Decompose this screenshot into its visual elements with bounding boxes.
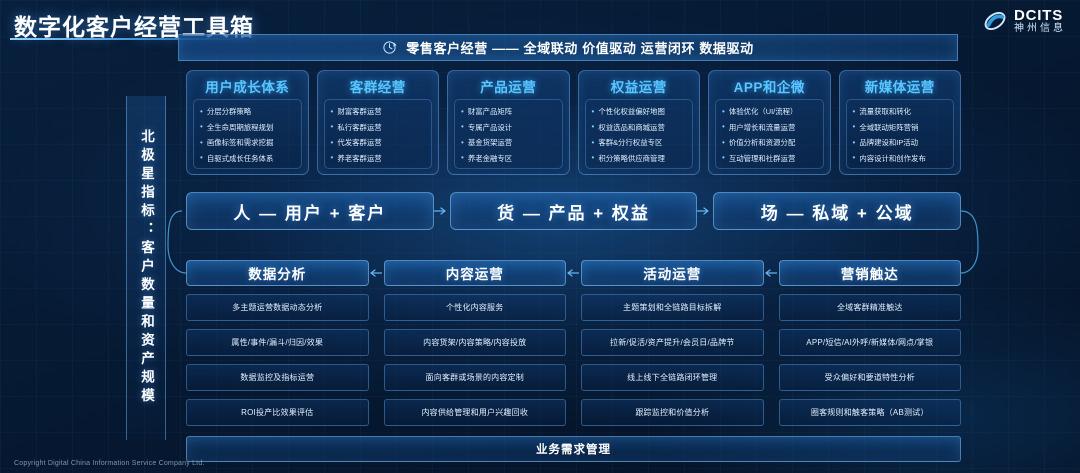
step-label: 营销触达 bbox=[841, 263, 899, 283]
card-item: 专属产品设计 bbox=[461, 123, 560, 132]
capability-card[interactable]: 产品运营 财富产品矩阵 专属产品设计 基金货架运营 养老金融专区 bbox=[447, 70, 570, 175]
card-item: 财富产品矩阵 bbox=[461, 107, 560, 116]
matrix-cell[interactable]: 内容供给管理和用户兴趣回收 bbox=[384, 399, 567, 426]
slide-canvas: 数字化客户经营工具箱 DCITS 神州信息 北极星指标：客户数量和资产规模 零售… bbox=[0, 0, 1080, 473]
matrix-cell[interactable]: 内容货架/内容策略/内容投放 bbox=[384, 329, 567, 356]
card-item: 画像标签和需求挖掘 bbox=[200, 138, 299, 147]
card-item: 积分策略供应商管理 bbox=[592, 154, 691, 163]
card-title: APP和企微 bbox=[713, 76, 826, 99]
card-item: 内容设计和创作发布 bbox=[853, 154, 952, 163]
footer-bar[interactable]: 业务需求管理 bbox=[186, 436, 961, 462]
logo-wordmark: DCITS bbox=[1014, 8, 1066, 24]
step-data-analysis[interactable]: 数据分析 bbox=[186, 260, 369, 286]
capability-card[interactable]: APP和企微 体验优化（UI/流程） 用户增长和流量运营 价值分析和资源分配 互… bbox=[708, 70, 831, 175]
banner-text: 零售客户经营 —— 全域联动 价值驱动 运营闭环 数据驱动 bbox=[406, 38, 753, 57]
matrix-cell[interactable]: ROI投产比效果评估 bbox=[186, 399, 369, 426]
matrix-cell[interactable]: 属性/事件/漏斗/归因/效果 bbox=[186, 329, 369, 356]
card-title: 权益运营 bbox=[583, 76, 696, 99]
card-body: 分层分群策略 全生命周期旅程规划 画像标签和需求挖掘 自驱式成长任务体系 bbox=[193, 99, 302, 169]
step-label: 内容运营 bbox=[446, 263, 504, 283]
retail-cycle-icon bbox=[382, 40, 397, 55]
step-label: 数据分析 bbox=[248, 263, 306, 283]
brand-logo: DCITS 神州信息 bbox=[982, 8, 1066, 34]
footer-bar-label: 业务需求管理 bbox=[536, 441, 611, 457]
card-item: 互动管理和社群运营 bbox=[722, 154, 821, 163]
card-body: 体验优化（UI/流程） 用户增长和流量运营 价值分析和资源分配 互动管理和社群运… bbox=[715, 99, 824, 169]
pillar-label: 人 — 用户 + 客户 bbox=[233, 199, 386, 224]
matrix-cell[interactable]: 面向客群或场景的内容定制 bbox=[384, 364, 567, 391]
arrow-left-icon bbox=[566, 268, 579, 278]
card-item: 价值分析和资源分配 bbox=[722, 138, 821, 147]
pillar-goods[interactable]: 货 — 产品 + 权益 bbox=[450, 192, 698, 230]
card-item: 代发客群运营 bbox=[331, 138, 430, 147]
card-item: 用户增长和流量运营 bbox=[722, 123, 821, 132]
card-body: 个性化权益偏好地图 权益选品和商城运营 客群&分行权益专区 积分策略供应商管理 bbox=[585, 99, 694, 169]
arrow-left-icon bbox=[369, 268, 382, 278]
arrow-left-icon bbox=[764, 268, 777, 278]
card-item: 全生命周期旅程规划 bbox=[200, 123, 299, 132]
card-item: 自驱式成长任务体系 bbox=[200, 154, 299, 163]
matrix-cell[interactable]: 受众偏好和要道特性分析 bbox=[779, 364, 962, 391]
card-item: 客群&分行权益专区 bbox=[592, 138, 691, 147]
card-item: 体验优化（UI/流程） bbox=[722, 107, 821, 116]
card-item: 个性化权益偏好地图 bbox=[592, 107, 691, 116]
step-row: 数据分析 内容运营 活动运营 营销触达 bbox=[186, 260, 961, 286]
dcits-swirl-icon bbox=[982, 8, 1008, 34]
pillar-row: 人 — 用户 + 客户 货 — 产品 + 权益 场 — 私域 + 公域 bbox=[186, 192, 961, 230]
capability-card[interactable]: 用户成长体系 分层分群策略 全生命周期旅程规划 画像标签和需求挖掘 自驱式成长任… bbox=[186, 70, 309, 175]
matrix-cell[interactable]: 跟踪监控和价值分析 bbox=[581, 399, 764, 426]
arrow-right-icon bbox=[434, 206, 448, 216]
card-body: 流量获取和转化 全域联动矩阵营销 品牌建设和IP活动 内容设计和创作发布 bbox=[846, 99, 955, 169]
matrix-cell[interactable]: 圈客规则和触客策略（AB测试） bbox=[779, 399, 962, 426]
card-item: 养老客群运营 bbox=[331, 154, 430, 163]
step-content-ops[interactable]: 内容运营 bbox=[384, 260, 567, 286]
north-star-label: 北极星指标：客户数量和资产规模 bbox=[136, 129, 156, 407]
pillar-people[interactable]: 人 — 用户 + 客户 bbox=[186, 192, 434, 230]
card-body: 财富产品矩阵 专属产品设计 基金货架运营 养老金融专区 bbox=[454, 99, 563, 169]
step-marketing-reach[interactable]: 营销触达 bbox=[779, 260, 962, 286]
matrix-column-marketing-reach: 全域客群精准触达 APP/短信/AI外呼/新媒体/网点/掌银 受众偏好和要道特性… bbox=[779, 294, 962, 426]
north-star-axis: 北极星指标：客户数量和资产规模 bbox=[126, 96, 166, 440]
card-item: 全域联动矩阵营销 bbox=[853, 123, 952, 132]
copyright-text: Copyright Digital China Information Serv… bbox=[14, 460, 205, 467]
step-campaign-ops[interactable]: 活动运营 bbox=[581, 260, 764, 286]
card-title: 产品运营 bbox=[452, 76, 565, 99]
card-item: 养老金融专区 bbox=[461, 154, 560, 163]
card-title: 用户成长体系 bbox=[191, 76, 304, 99]
capability-card[interactable]: 客群经营 财富客群运营 私行客群运营 代发客群运营 养老客群运营 bbox=[317, 70, 440, 175]
card-item: 品牌建设和IP活动 bbox=[853, 138, 952, 147]
card-body: 财富客群运营 私行客群运营 代发客群运营 养老客群运营 bbox=[324, 99, 433, 169]
matrix-cell[interactable]: 数据监控及指标运营 bbox=[186, 364, 369, 391]
capability-card-row: 用户成长体系 分层分群策略 全生命周期旅程规划 画像标签和需求挖掘 自驱式成长任… bbox=[186, 70, 961, 175]
matrix-column-data-analysis: 多主题运营数据动态分析 属性/事件/漏斗/归因/效果 数据监控及指标运营 ROI… bbox=[186, 294, 369, 426]
card-title: 新媒体运营 bbox=[844, 76, 957, 99]
headline-banner: 零售客户经营 —— 全域联动 价值驱动 运营闭环 数据驱动 bbox=[178, 34, 958, 61]
matrix-cell[interactable]: 多主题运营数据动态分析 bbox=[186, 294, 369, 321]
card-item: 私行客群运营 bbox=[331, 123, 430, 132]
pillar-label: 货 — 产品 + 权益 bbox=[497, 199, 650, 224]
card-item: 分层分群策略 bbox=[200, 107, 299, 116]
matrix-cell[interactable]: 主题策划和全链路目标拆解 bbox=[581, 294, 764, 321]
pillar-label: 场 — 私域 + 公域 bbox=[761, 199, 914, 224]
logo-chinese-name: 神州信息 bbox=[1014, 24, 1066, 35]
card-item: 流量获取和转化 bbox=[853, 107, 952, 116]
matrix-column-campaign-ops: 主题策划和全链路目标拆解 拉新/促活/资产提升/会员日/品牌节 线上线下全链路闭… bbox=[581, 294, 764, 426]
capability-card[interactable]: 新媒体运营 流量获取和转化 全域联动矩阵营销 品牌建设和IP活动 内容设计和创作… bbox=[839, 70, 962, 175]
matrix-cell[interactable]: APP/短信/AI外呼/新媒体/网点/掌银 bbox=[779, 329, 962, 356]
matrix-column-content-ops: 个性化内容服务 内容货架/内容策略/内容投放 面向客群或场景的内容定制 内容供给… bbox=[384, 294, 567, 426]
matrix-cell[interactable]: 个性化内容服务 bbox=[384, 294, 567, 321]
pillar-field[interactable]: 场 — 私域 + 公域 bbox=[713, 192, 961, 230]
matrix-cell[interactable]: 拉新/促活/资产提升/会员日/品牌节 bbox=[581, 329, 764, 356]
matrix-cell[interactable]: 线上线下全链路闭环管理 bbox=[581, 364, 764, 391]
card-title: 客群经营 bbox=[322, 76, 435, 99]
card-item: 财富客群运营 bbox=[331, 107, 430, 116]
capability-card[interactable]: 权益运营 个性化权益偏好地图 权益选品和商城运营 客群&分行权益专区 积分策略供… bbox=[578, 70, 701, 175]
matrix-cell[interactable]: 全域客群精准触达 bbox=[779, 294, 962, 321]
arrow-right-icon bbox=[697, 206, 711, 216]
card-item: 基金货架运营 bbox=[461, 138, 560, 147]
card-item: 权益选品和商城运营 bbox=[592, 123, 691, 132]
detail-matrix: 多主题运营数据动态分析 属性/事件/漏斗/归因/效果 数据监控及指标运营 ROI… bbox=[186, 294, 961, 426]
step-label: 活动运营 bbox=[643, 263, 701, 283]
